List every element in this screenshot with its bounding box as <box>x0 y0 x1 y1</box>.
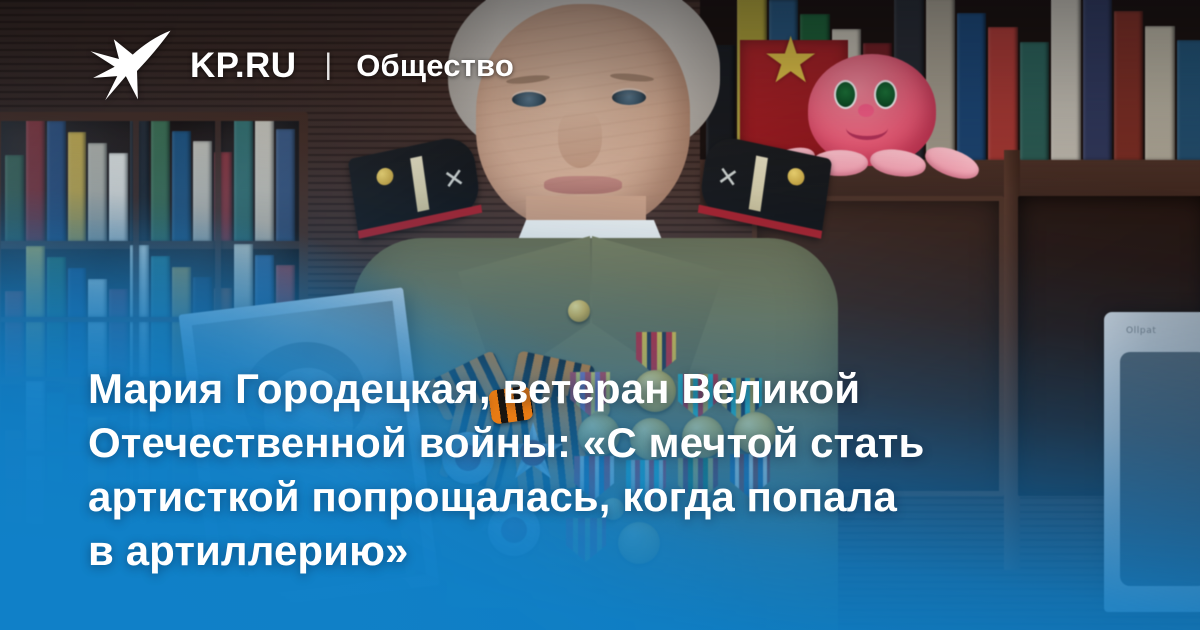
monitor-screen <box>1120 352 1200 586</box>
book-spine <box>68 268 87 377</box>
shoulder-button <box>787 167 806 187</box>
eye-right <box>612 90 646 105</box>
rubric-label[interactable]: Общество <box>356 50 514 81</box>
book-spine <box>255 119 274 241</box>
kp-social-card: Ollpat ✕ <box>0 0 1200 630</box>
artillery-emblem-icon: ✕ <box>715 162 740 192</box>
plush-smile <box>846 116 888 140</box>
artillery-emblem-icon: ✕ <box>442 164 467 194</box>
book-spine <box>5 155 24 241</box>
book-spine <box>26 246 45 377</box>
nose <box>558 110 602 168</box>
book-spine <box>957 13 986 160</box>
book-spine <box>151 120 170 241</box>
shoulder-board-left: ✕ <box>348 133 482 239</box>
monitor-brand-label: Ollpat <box>1126 326 1156 336</box>
kp-swallow-logo-icon[interactable] <box>88 28 174 102</box>
shoulder-board-right: ✕ <box>698 133 832 239</box>
book-spine <box>47 393 66 525</box>
bookshelf-row <box>1 121 299 249</box>
book-spine <box>5 430 24 525</box>
headline-line: в артиллерию» <box>88 524 1048 578</box>
tunic-button <box>568 300 590 322</box>
book-spine <box>234 112 253 241</box>
brand-label[interactable]: KP.RU <box>190 48 296 83</box>
site-header: KP.RU | Общество <box>88 36 514 94</box>
eye-left <box>512 92 546 107</box>
shoulder-stripe <box>749 156 768 212</box>
book-spine <box>172 131 191 241</box>
book-spine <box>1145 26 1174 160</box>
book-spine <box>5 291 24 377</box>
book-spine <box>26 112 45 241</box>
article-headline: Мария Городецкая, ветеран Великой Отечес… <box>88 362 1048 578</box>
book-spine <box>988 27 1017 160</box>
book-spine <box>1020 42 1049 160</box>
book-spine <box>276 129 295 241</box>
headline-line: Мария Городецкая, ветеран Великой <box>88 362 1048 416</box>
mouth <box>544 176 622 194</box>
book-spine <box>68 132 87 241</box>
book-spine <box>1114 11 1143 160</box>
book-spine <box>88 143 107 241</box>
headline-line: Отечественной войны: «С мечтой стать <box>88 416 1048 470</box>
book-spine <box>109 153 128 241</box>
header-separator: | <box>324 50 332 80</box>
monitor-right: Ollpat <box>1104 312 1200 612</box>
book-spine <box>68 405 87 525</box>
plush-eye-right <box>874 80 897 109</box>
book-spine <box>1083 0 1112 160</box>
shoulder-button <box>375 166 394 186</box>
headline-line: артисткой попрощалась, когда попала <box>88 470 1048 524</box>
book-spine <box>1177 40 1200 160</box>
book-spine <box>193 141 212 241</box>
book-spine <box>47 121 66 241</box>
shoulder-stripe <box>410 156 429 212</box>
book-spine <box>1051 0 1080 160</box>
